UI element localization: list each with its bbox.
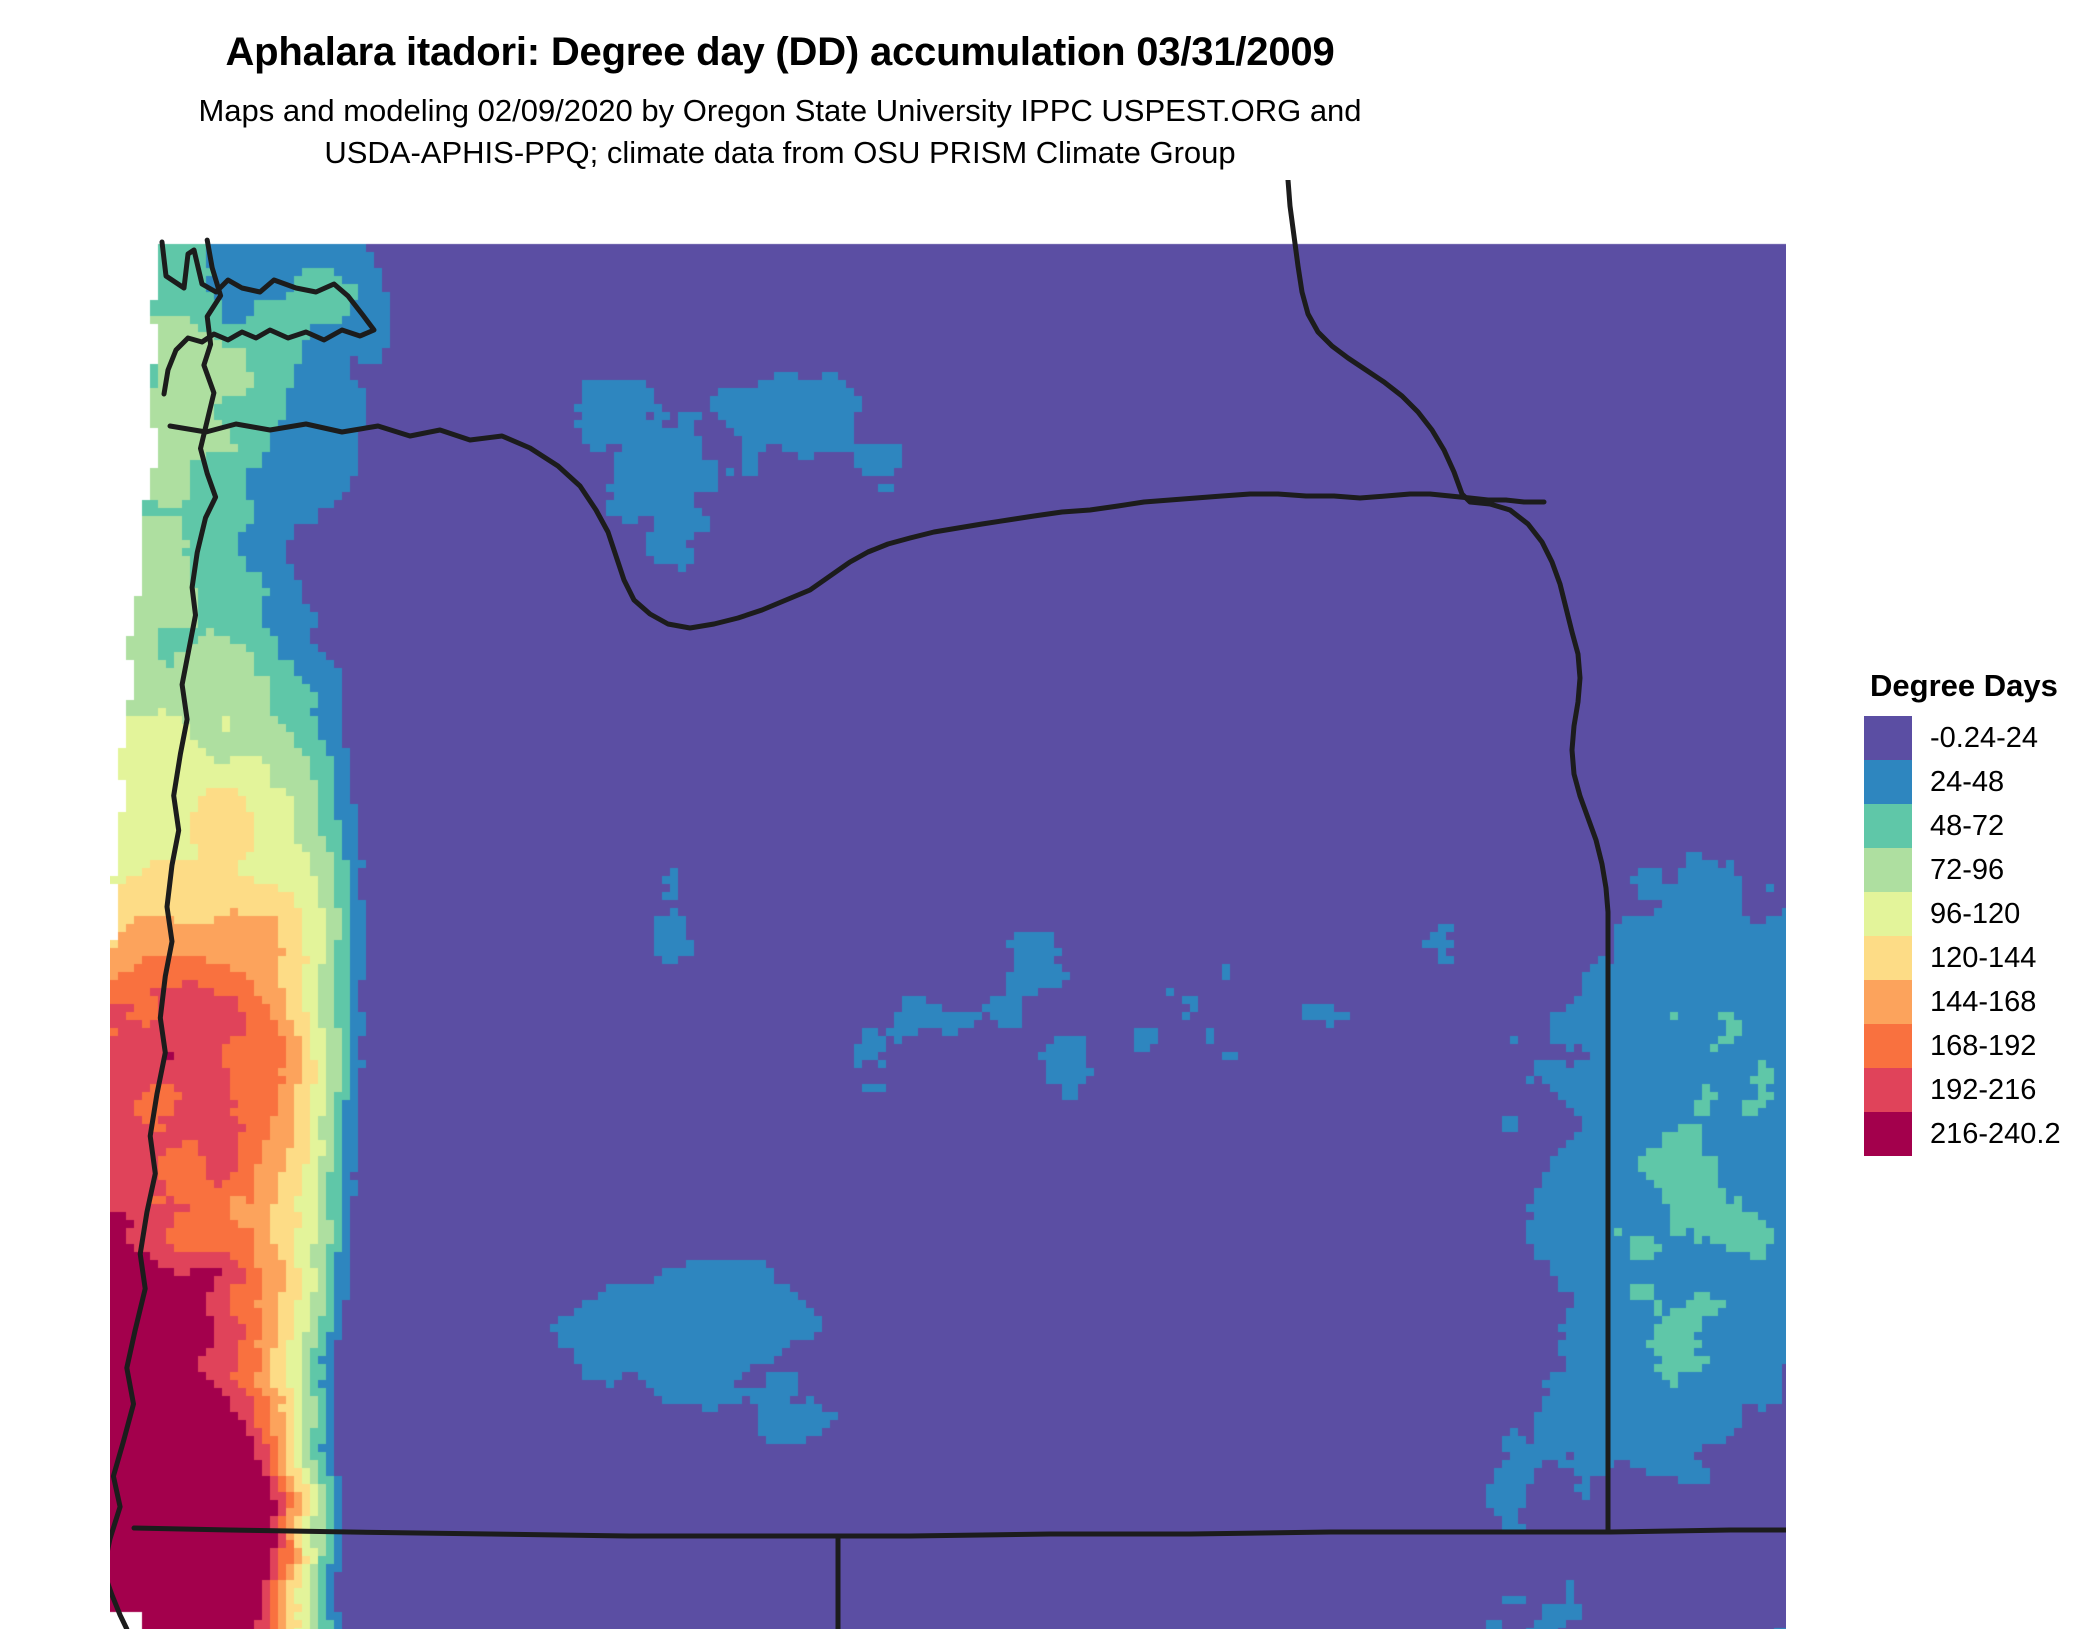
legend-swatch [1864,716,1912,760]
legend-label: 48-72 [1930,812,2004,841]
legend-swatch [1864,848,1912,892]
map-area[interactable] [110,180,1786,1629]
legend-row: 120-144 [1864,936,2100,980]
legend-swatch [1864,892,1912,936]
legend-label: 72-96 [1930,856,2004,885]
legend-row: 48-72 [1864,804,2100,848]
legend-label: 192-216 [1930,1076,2036,1105]
legend-row: 216-240.2 [1864,1112,2100,1156]
legend-label: 168-192 [1930,1032,2036,1061]
legend-row: -0.24-24 [1864,716,2100,760]
legend-swatch [1864,1112,1912,1156]
legend-swatch [1864,760,1912,804]
subtitle-line-1: Maps and modeling 02/09/2020 by Oregon S… [0,90,1560,132]
legend-row: 72-96 [1864,848,2100,892]
legend-label: 144-168 [1930,988,2036,1017]
page-title: Aphalara itadori: Degree day (DD) accumu… [0,30,1560,74]
legend-rows: -0.24-2424-4848-7272-9696-120120-144144-… [1864,716,2100,1156]
title-block: Aphalara itadori: Degree day (DD) accumu… [0,30,1560,174]
degree-day-raster[interactable] [110,180,1786,1629]
legend-label: 216-240.2 [1930,1120,2061,1149]
legend: Degree Days -0.24-2424-4848-7272-9696-12… [1864,668,2100,1156]
legend-row: 96-120 [1864,892,2100,936]
legend-label: -0.24-24 [1930,724,2038,753]
legend-row: 144-168 [1864,980,2100,1024]
legend-title: Degree Days [1870,668,2100,704]
legend-label: 120-144 [1930,944,2036,973]
legend-swatch [1864,804,1912,848]
legend-row: 192-216 [1864,1068,2100,1112]
subtitle-line-2: USDA-APHIS-PPQ; climate data from OSU PR… [0,132,1560,174]
legend-label: 24-48 [1930,768,2004,797]
degree-day-map-page: Aphalara itadori: Degree day (DD) accumu… [0,0,2100,1645]
legend-swatch [1864,936,1912,980]
legend-swatch [1864,980,1912,1024]
legend-row: 168-192 [1864,1024,2100,1068]
legend-swatch [1864,1024,1912,1068]
legend-row: 24-48 [1864,760,2100,804]
legend-label: 96-120 [1930,900,2020,929]
legend-swatch [1864,1068,1912,1112]
